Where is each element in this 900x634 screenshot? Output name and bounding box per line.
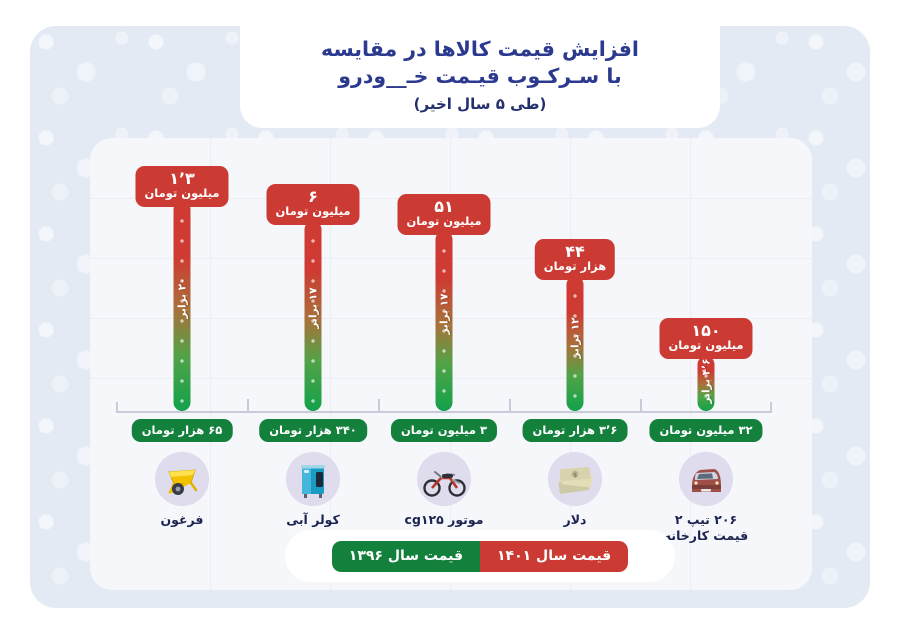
- category-label: کولر آبی: [249, 512, 377, 528]
- bar-car: ۴٬۶ برابر: [698, 356, 715, 411]
- bar-dollar: ۱۲ برابر: [567, 276, 584, 411]
- bar-ratio-label: ۱۷ برابر: [438, 293, 450, 334]
- chart-column-motorcycle: ۵۱ میلیون تومان ۱۷ برابر ۳ میلیون تومان: [378, 156, 510, 556]
- wheelbarrow-icon: [155, 452, 209, 506]
- value-badge-new-unit: میلیون تومان: [406, 214, 481, 229]
- value-badge-new-amount: ۵۱: [406, 199, 481, 214]
- legend-item-old-price[interactable]: قیمت سال ۱۳۹۶: [332, 541, 480, 572]
- value-badge-new-amount: ۱٬۳: [144, 171, 219, 186]
- chart-card: ۱٬۳ میلیون تومان ۲۰ برابر ۶۵ هزار تومان: [90, 138, 812, 590]
- value-badge-new-amount: ۶: [275, 189, 350, 204]
- bar-ratio-label: ۲۰ برابر: [176, 277, 188, 318]
- value-badge-new: ۴۴ هزار تومان: [535, 239, 615, 280]
- page-title-line-2: با سـرکـوب قیـمت خـ__ودرو: [240, 63, 720, 90]
- category-label: دلار: [511, 512, 639, 528]
- value-badge-new-unit: میلیون تومان: [275, 204, 350, 219]
- bar-wheelbarrow: ۲۰ برابر: [174, 201, 191, 411]
- chart-column-car: ۱۵۰ میلیون تومان ۴٬۶ برابر ۳۲ میلیون توم…: [640, 156, 772, 556]
- value-badge-old: ۳ میلیون تومان: [391, 419, 497, 442]
- value-badge-new-amount: ۱۵۰: [668, 323, 743, 338]
- bar-ratio-label: ۱۲ برابر: [569, 318, 581, 359]
- category-label-line-1: کولر آبی: [249, 512, 377, 528]
- value-badge-new-amount: ۴۴: [544, 244, 606, 259]
- bar-motorcycle: ۱۷ برابر: [436, 231, 453, 411]
- value-badge-old: ۳۴۰ هزار تومان: [259, 419, 367, 442]
- water-cooler-icon: [286, 452, 340, 506]
- category-label-line-1: فرغون: [118, 512, 246, 528]
- value-badge-new-unit: هزار تومان: [544, 259, 606, 274]
- page-subtitle: (طی ۵ سال اخیر): [240, 93, 720, 115]
- value-badge-new-unit: میلیون تومان: [668, 338, 743, 353]
- legend-pill-group: قیمت سال ۱۴۰۱ قیمت سال ۱۳۹۶: [332, 541, 628, 572]
- chart-column-water-cooler: ۶ میلیون تومان ۱۷ برابر ۳۴۰ هزار تومان: [247, 156, 379, 556]
- value-badge-new: ۱۵۰ میلیون تومان: [659, 318, 752, 359]
- chart-column-dollar: ۴۴ هزار تومان ۱۲ برابر ۳٬۶ هزار تومان: [509, 156, 641, 556]
- dollar-bundle-icon: $: [548, 452, 602, 506]
- bar-ratio-label: ۱۷ برابر: [307, 288, 319, 329]
- value-badge-old: ۳٬۶ هزار تومان: [523, 419, 628, 442]
- legend: قیمت سال ۱۴۰۱ قیمت سال ۱۳۹۶: [285, 530, 675, 582]
- legend-item-new-price[interactable]: قیمت سال ۱۴۰۱: [480, 541, 628, 572]
- infographic-poster: افزایش قیمت کالاها در مقایسه با سـرکـوب …: [0, 0, 900, 634]
- category-label-line-1: موتور cg۱۲۵: [380, 512, 508, 528]
- plot-area: ۱٬۳ میلیون تومان ۲۰ برابر ۶۵ هزار تومان: [108, 156, 794, 556]
- bar-water-cooler: ۱۷ برابر: [305, 221, 322, 411]
- value-badge-new-unit: میلیون تومان: [144, 186, 219, 201]
- title-band: افزایش قیمت کالاها در مقایسه با سـرکـوب …: [240, 26, 720, 128]
- page-title-line-1: افزایش قیمت کالاها در مقایسه: [240, 36, 720, 63]
- svg-text:$: $: [573, 472, 578, 479]
- outer-panel: افزایش قیمت کالاها در مقایسه با سـرکـوب …: [30, 26, 870, 608]
- value-badge-new: ۶ میلیون تومان: [266, 184, 359, 225]
- car-icon: [679, 452, 733, 506]
- chart-column-wheelbarrow: ۱٬۳ میلیون تومان ۲۰ برابر ۶۵ هزار تومان: [116, 156, 248, 556]
- category-label-line-1: دلار: [511, 512, 639, 528]
- category-label: موتور cg۱۲۵: [380, 512, 508, 528]
- value-badge-new: ۵۱ میلیون تومان: [397, 194, 490, 235]
- category-label: فرغون: [118, 512, 246, 528]
- category-label-line-1: ۲۰۶ تیپ ۲: [642, 512, 770, 528]
- bar-ratio-label: ۴٬۶ برابر: [700, 359, 712, 404]
- value-badge-old: ۶۵ هزار تومان: [132, 419, 233, 442]
- motorcycle-icon: [417, 452, 471, 506]
- value-badge-old: ۳۲ میلیون تومان: [649, 419, 762, 442]
